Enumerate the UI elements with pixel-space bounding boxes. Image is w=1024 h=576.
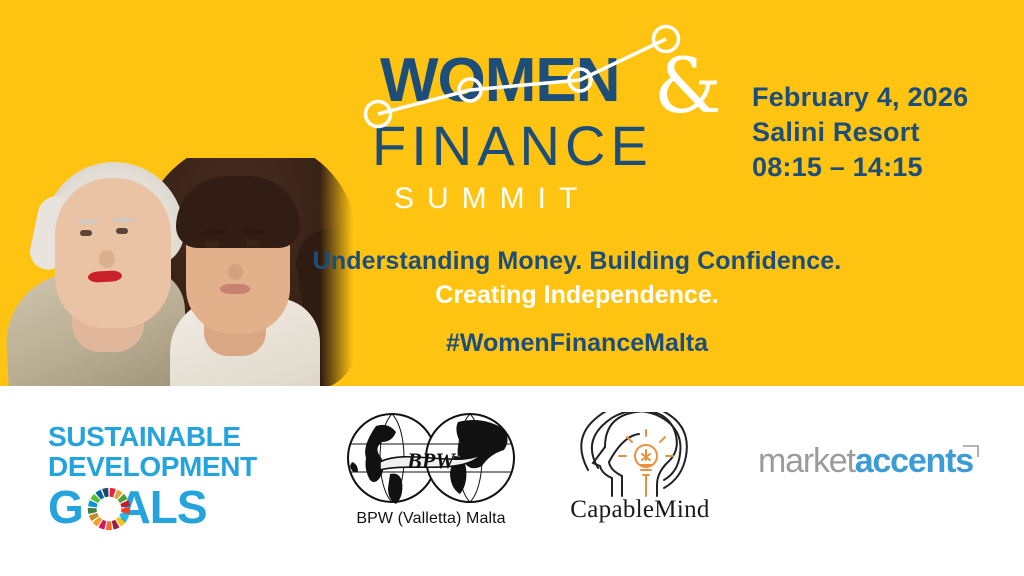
tagline-secondary: Creating Independence. <box>0 281 1024 310</box>
logo-word-summit: SUMMIT <box>394 184 590 214</box>
marketaccents-word-market: market <box>758 442 855 480</box>
head-profile-lightbulb-icon <box>550 412 730 498</box>
event-date: February 4, 2026 <box>752 80 968 115</box>
sdg-line-development: DEVELOPMENT <box>48 452 263 482</box>
bpw-mark-text: BPW <box>406 448 456 473</box>
older-woman-eye-right <box>116 228 128 234</box>
marketaccents-word-accents: accents <box>855 442 973 480</box>
sdg-line-sustainable: SUSTAINABLE <box>48 422 263 452</box>
marketaccents-wordmark: marketaccents <box>758 442 978 480</box>
sdg-color-wheel-icon <box>86 486 132 532</box>
sponsor-logo-marketaccents: marketaccents <box>758 442 978 488</box>
poster-canvas: WOMEN & FINANCE SUMMIT February 4, 2026 … <box>0 0 1024 576</box>
corner-flag-mark-icon <box>962 444 980 460</box>
sponsor-footer: SUSTAINABLE DEVELOPMENT GOALS <box>0 386 1024 576</box>
younger-woman-eye-right <box>246 240 260 247</box>
twin-globes-icon: BPW <box>336 410 526 510</box>
logo-word-finance: FINANCE <box>372 118 653 174</box>
hero-banner: WOMEN & FINANCE SUMMIT February 4, 2026 … <box>0 0 1024 386</box>
tagline-primary: Understanding Money. Building Confidence… <box>0 247 1024 276</box>
sponsor-logo-bpw: BPW BPW (Valletta) Malta <box>336 410 526 540</box>
event-details: February 4, 2026 Salini Resort 08:15 – 1… <box>752 80 968 185</box>
bpw-caption: BPW (Valletta) Malta <box>336 510 526 528</box>
event-time: 08:15 – 14:15 <box>752 150 968 185</box>
capablemind-caption: CapableMind <box>550 496 730 524</box>
logo-ampersand: & <box>654 48 722 124</box>
logo-word-women: WOMEN <box>380 50 620 112</box>
younger-woman-fringe <box>176 176 300 248</box>
event-hashtag: #WomenFinanceMalta <box>0 329 1024 358</box>
sdg-line-goals: GOALS <box>48 483 263 531</box>
event-logo-lockup: WOMEN & FINANCE SUMMIT <box>358 24 718 224</box>
sponsor-logo-capablemind: CapableMind <box>550 412 730 532</box>
event-venue: Salini Resort <box>752 115 968 150</box>
sdg-goals-prefix: G <box>48 481 83 533</box>
sponsor-logo-sdg: SUSTAINABLE DEVELOPMENT GOALS <box>48 422 263 526</box>
older-woman-eye-left <box>80 230 92 236</box>
